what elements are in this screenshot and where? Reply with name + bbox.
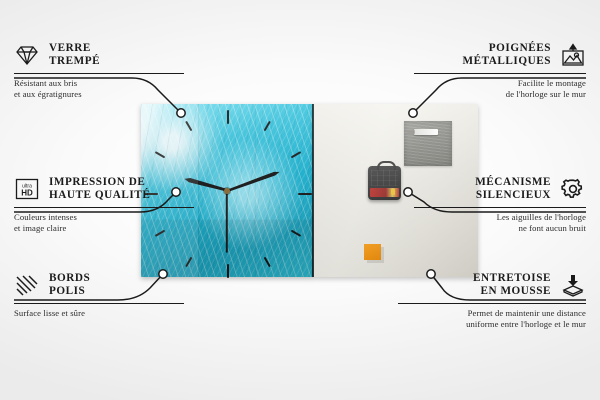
callout-rule (414, 207, 586, 208)
callout-poignees-metalliques[interactable]: POIGNÉES MÉTALLIQUES Facilite le montage… (414, 42, 586, 99)
callout-title-line2: SILENCIEUX (476, 189, 551, 201)
gear-icon (560, 177, 586, 201)
metal-hanger-plate (404, 121, 452, 166)
infographic-canvas: VERRE TREMPÉ Résistant aux bris et aux é… (0, 0, 600, 400)
callout-title-line2: EN MOUSSE (480, 285, 551, 297)
callout-verre-trempe[interactable]: VERRE TREMPÉ Résistant aux bris et aux é… (14, 42, 184, 99)
clock-center-cap (224, 188, 230, 194)
foam-spacer (364, 244, 381, 260)
callout-sub-line1: Facilite le montage (518, 78, 586, 88)
callout-sub-line2: et image claire (14, 223, 66, 233)
ultra-hd-icon: ultra HD (14, 177, 40, 201)
callout-mecanisme-silencieux[interactable]: MÉCANISME SILENCIEUX Les aiguilles de l'… (414, 176, 586, 233)
callout-header: POIGNÉES MÉTALLIQUES (414, 42, 586, 68)
clock-second-hand (226, 191, 228, 253)
callout-header: MÉCANISME SILENCIEUX (414, 176, 586, 202)
callout-rule (14, 207, 194, 208)
callout-title-line1: ENTRETOISE (473, 272, 551, 284)
hanging-picture-icon (560, 43, 586, 67)
clock-tick (291, 230, 302, 237)
callout-title-line2: POLIS (49, 285, 85, 297)
callout-title-line2: HAUTE QUALITÉ (49, 189, 150, 201)
clock-tick (185, 121, 192, 132)
clock-tick (264, 257, 271, 268)
clock-mechanism (368, 166, 401, 200)
panel-seam (312, 104, 314, 277)
callout-header: BORDS POLIS (14, 272, 184, 298)
clock-tick (298, 193, 312, 195)
battery (370, 188, 399, 197)
hanger-slot (414, 129, 438, 135)
callout-title-line1: VERRE (49, 42, 91, 54)
callout-sub-line2: et aux égratignures (14, 89, 82, 99)
callout-sub-line2: uniforme entre l'horloge et le mur (466, 319, 586, 329)
clock-minute-hand (226, 169, 280, 192)
callout-header: ultra HD IMPRESSION DE HAUTE QUALITÉ (14, 176, 194, 202)
callout-rule (14, 303, 184, 304)
callout-sub-line1: Couleurs intenses (14, 212, 77, 222)
arrow-down-pad-icon (560, 273, 586, 297)
callout-title-line2: TREMPÉ (49, 55, 100, 67)
callout-rule (398, 303, 586, 304)
callout-rule (14, 73, 184, 74)
clock-tick (227, 264, 229, 278)
diagonal-lines-icon (14, 273, 40, 297)
mechanism-housing (371, 170, 398, 186)
callout-sub-line2: ne font aucun bruit (519, 223, 586, 233)
clock-tick (227, 110, 229, 124)
callout-sub-line1: Résistant aux bris (14, 78, 77, 88)
callout-title-line2: MÉTALLIQUES (462, 55, 551, 67)
callout-header: ENTRETOISE EN MOUSSE (398, 272, 586, 298)
callout-rule (414, 73, 586, 74)
callout-sub-line1: Permet de maintenir une distance (468, 308, 586, 318)
callout-title-line1: MÉCANISME (475, 176, 551, 188)
callout-sub-line1: Surface lisse et sûre (14, 308, 85, 318)
diamond-icon (14, 43, 40, 67)
callout-impression-haute-qualite[interactable]: ultra HD IMPRESSION DE HAUTE QUALITÉ Cou… (14, 176, 194, 233)
callout-title-line1: IMPRESSION DE (49, 176, 145, 188)
clock-tick (185, 257, 192, 268)
clock-tick (155, 151, 166, 158)
callout-header: VERRE TREMPÉ (14, 42, 184, 68)
mechanism-hanging-loop (377, 161, 396, 172)
clock-tick (264, 121, 271, 132)
callout-sub-line1: Les aiguilles de l'horloge (497, 212, 586, 222)
callout-title-line1: POIGNÉES (489, 42, 551, 54)
svg-text:HD: HD (21, 189, 33, 198)
callout-entretoise-en-mousse[interactable]: ENTRETOISE EN MOUSSE Permet de maintenir… (398, 272, 586, 329)
callout-title-line1: BORDS (49, 272, 90, 284)
clock-tick (291, 151, 302, 158)
callout-sub-line2: de l'horloge sur le mur (506, 89, 586, 99)
callout-bords-polis[interactable]: BORDS POLIS Surface lisse et sûre (14, 272, 184, 319)
